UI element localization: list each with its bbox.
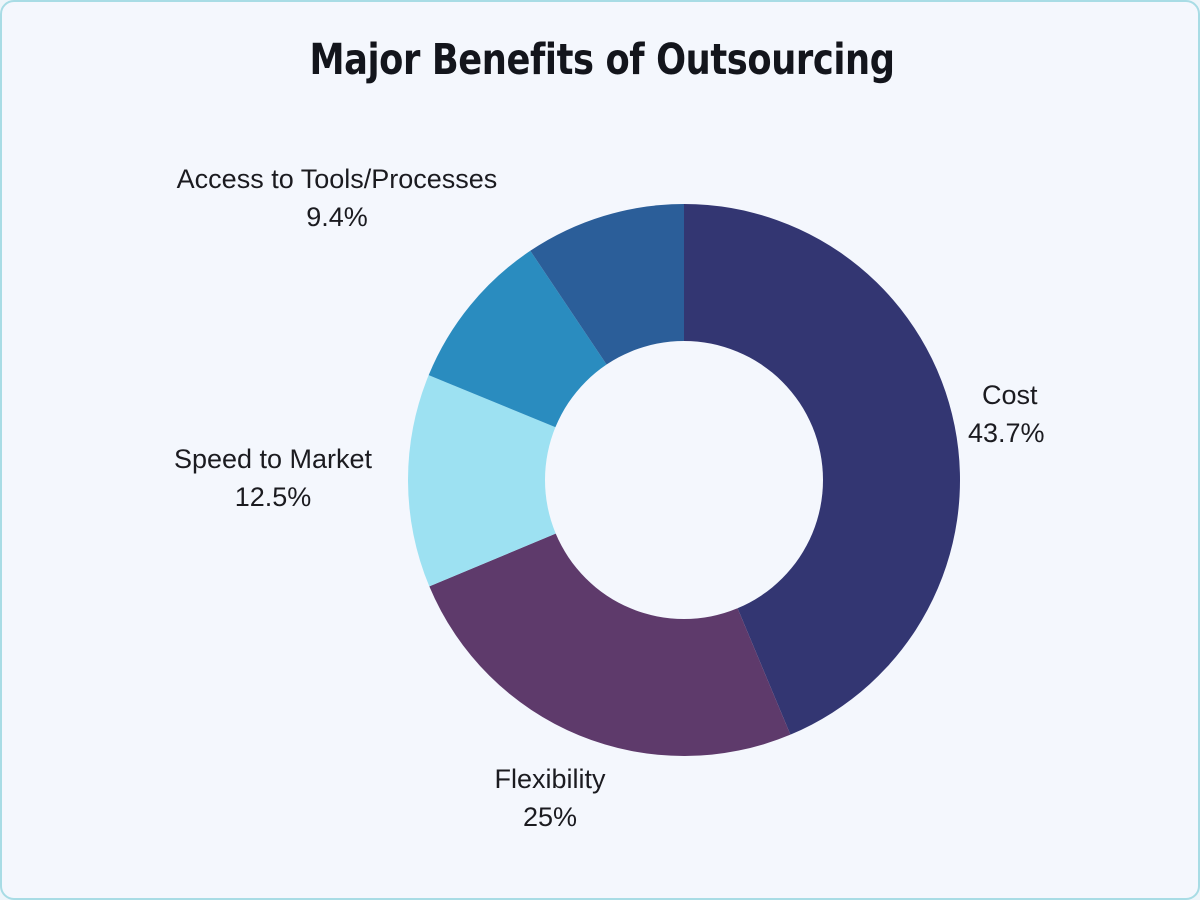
- slice-label-flexibility-value: 25%: [450, 798, 650, 836]
- slice-label-cost-name: Cost: [968, 376, 1045, 414]
- slice-label-access-to-tools: Access to Tools/Processes 9.4%: [148, 160, 526, 237]
- slice-label-speed-to-market-value: 12.5%: [150, 478, 396, 516]
- chart-canvas: Major Benefits of Outsourcing Cost 43.7%…: [0, 0, 1200, 900]
- donut-chart: Cost 43.7% Flexibility 25% Speed to Mark…: [2, 2, 1200, 900]
- slice-label-speed-to-market: Speed to Market 12.5%: [150, 440, 396, 517]
- slice-label-access-to-tools-name: Access to Tools/Processes: [148, 160, 526, 198]
- slice-label-cost-value: 43.7%: [968, 414, 1045, 452]
- slice-label-flexibility: Flexibility 25%: [450, 760, 650, 837]
- donut-hole: [545, 341, 823, 619]
- slice-label-speed-to-market-name: Speed to Market: [150, 440, 396, 478]
- slice-label-flexibility-name: Flexibility: [450, 760, 650, 798]
- slice-label-cost: Cost 43.7%: [968, 376, 1045, 453]
- slice-label-access-to-tools-value: 9.4%: [148, 198, 526, 236]
